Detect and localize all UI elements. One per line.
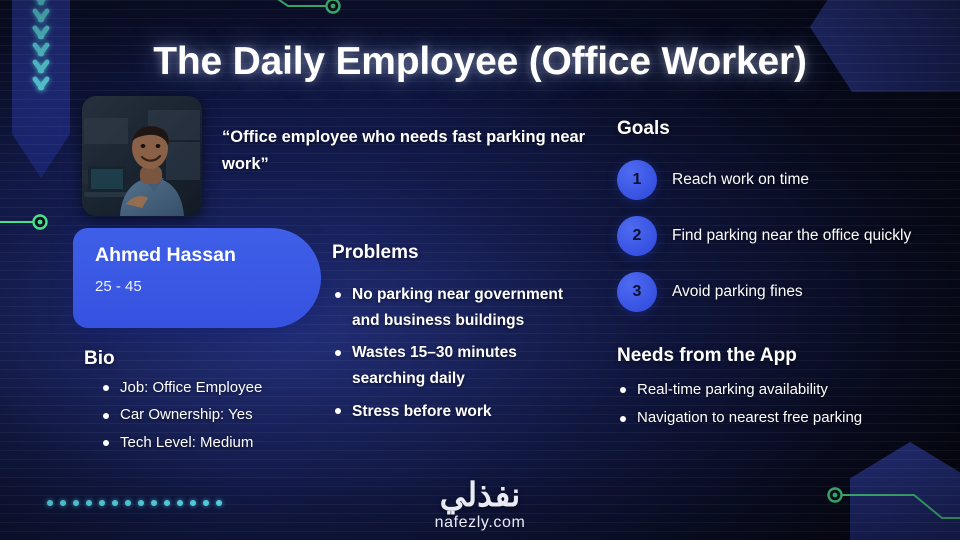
list-item: No parking near government and business … <box>332 282 590 333</box>
persona-name-card: Ahmed Hassan 25 - 45 <box>73 228 321 328</box>
list-item: Job: Office Employee <box>100 376 350 399</box>
goal-number-badge: 3 <box>617 272 657 312</box>
persona-slide: The Daily Employee (Office Worker) <box>0 0 960 540</box>
section-heading-goals: Goals <box>617 118 670 140</box>
page-title: The Daily Employee (Office Worker) <box>0 40 960 84</box>
section-heading-needs: Needs from the App <box>617 345 797 367</box>
list-item: Navigation to nearest free parking <box>617 406 947 429</box>
office-worker-photo-icon <box>82 96 202 216</box>
goal-number-badge: 1 <box>617 160 657 200</box>
list-item: Real-time parking availability <box>617 378 947 401</box>
persona-age-range: 25 - 45 <box>95 278 142 295</box>
brand-name-arabic: نفذلي <box>0 478 960 513</box>
section-heading-problems: Problems <box>332 242 419 264</box>
list-item: Car Ownership: Yes <box>100 403 350 426</box>
goal-text: Find parking near the office quickly <box>672 225 911 246</box>
goal-item: 3 Avoid parking fines <box>617 270 947 314</box>
list-item: Stress before work <box>332 399 590 425</box>
brand-domain: nafezly.com <box>0 514 960 532</box>
avatar <box>82 96 202 216</box>
needs-list: Real-time parking availability Navigatio… <box>617 378 947 435</box>
goals-list: 1 Reach work on time 2 Find parking near… <box>617 158 947 326</box>
list-item: Tech Level: Medium <box>100 431 350 454</box>
goal-item: 2 Find parking near the office quickly <box>617 214 947 258</box>
goal-text: Reach work on time <box>672 169 809 190</box>
brand-logo: نفذلي nafezly.com <box>0 478 960 532</box>
list-item: Wastes 15–30 minutes searching daily <box>332 340 590 391</box>
goal-text: Avoid parking fines <box>672 281 803 302</box>
persona-name: Ahmed Hassan <box>95 244 236 267</box>
goal-item: 1 Reach work on time <box>617 158 947 202</box>
goal-number-badge: 2 <box>617 216 657 256</box>
section-heading-bio: Bio <box>84 348 115 370</box>
problems-list: No parking near government and business … <box>332 282 590 432</box>
persona-quote: “Office employee who needs fast parking … <box>222 124 592 177</box>
bio-list: Job: Office Employee Car Ownership: Yes … <box>100 376 350 458</box>
